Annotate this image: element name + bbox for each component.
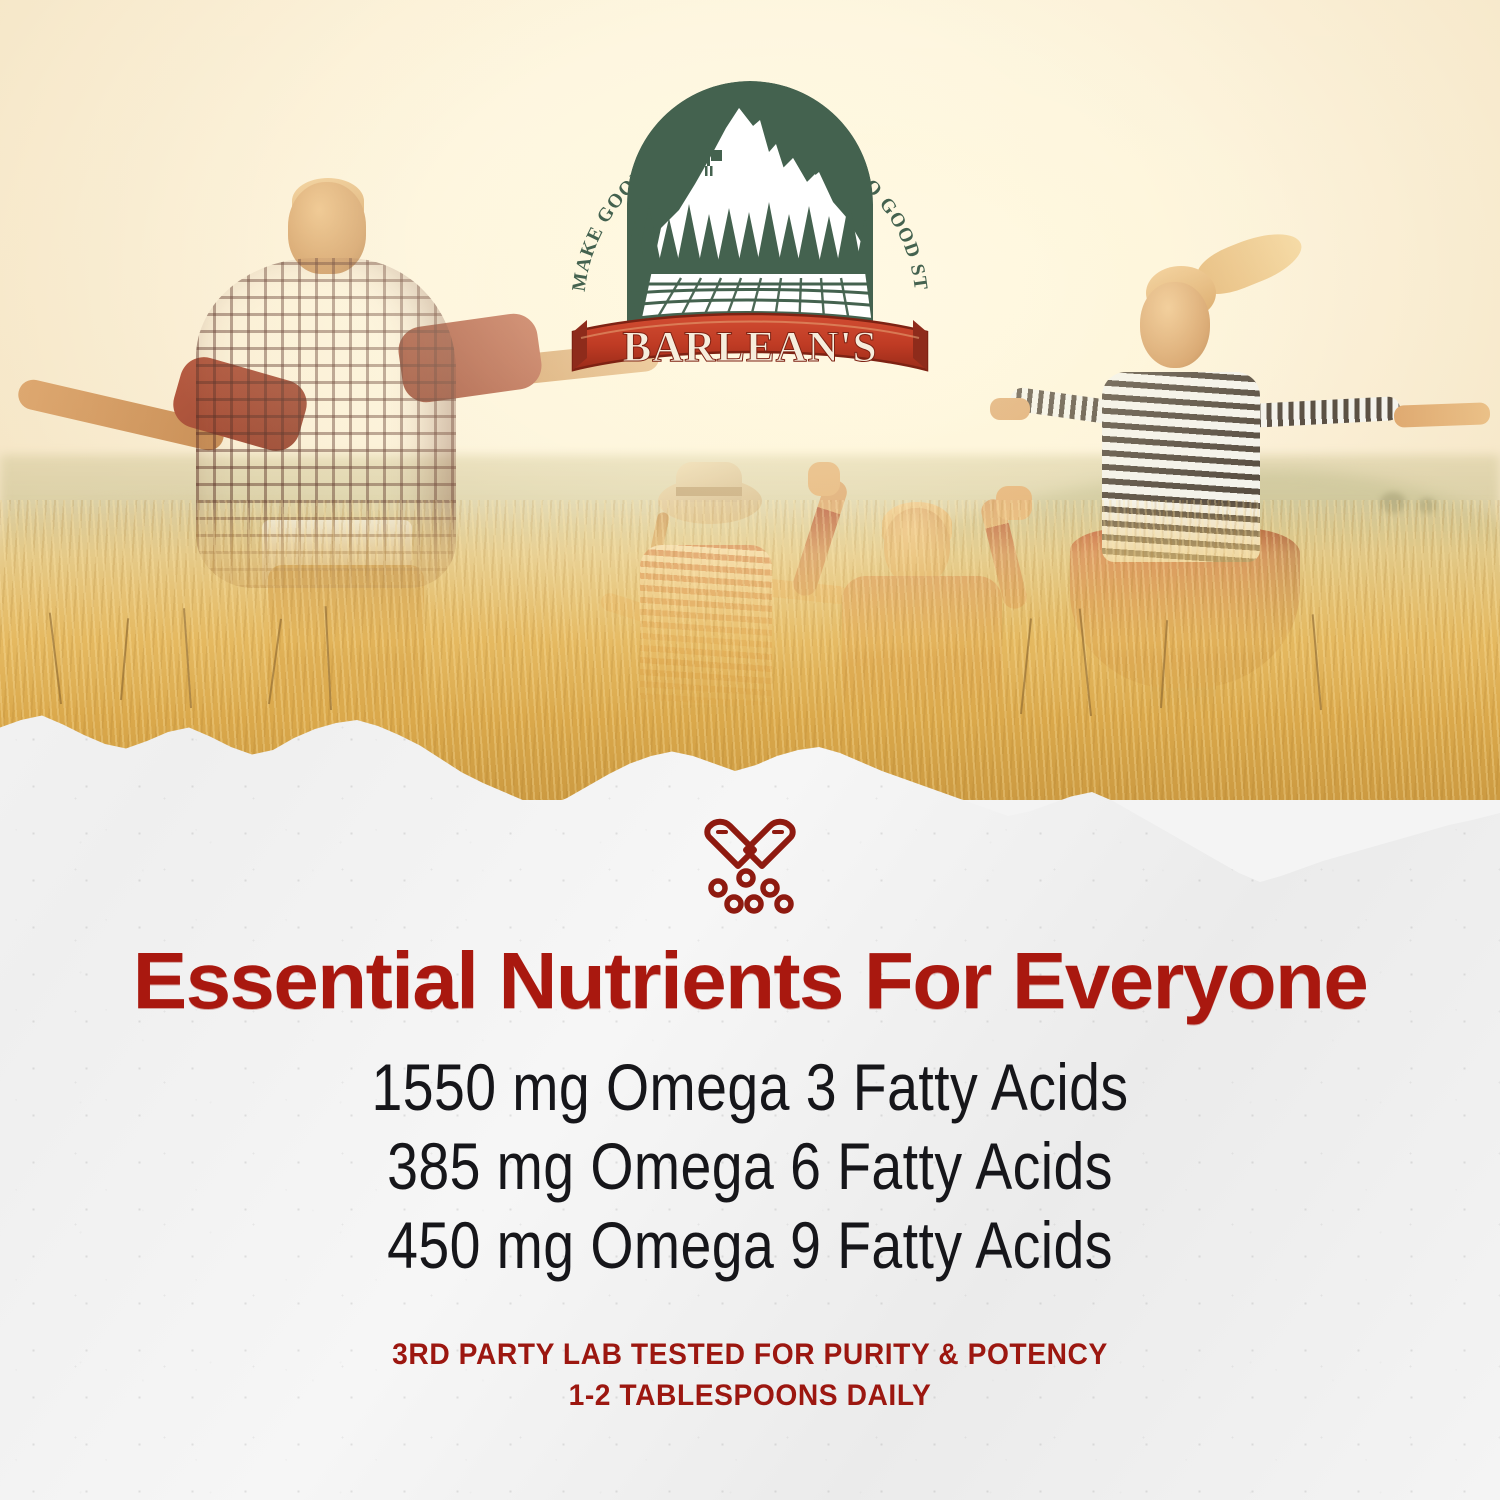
footnote-block: 3RD PARTY LAB TESTED FOR PURITY & POTENC… xyxy=(0,1334,1500,1416)
footnote-dosage: 1-2 TABLESPOONS DAILY xyxy=(45,1375,1455,1416)
list-item: 385 mg Omega 6 Fatty Acids xyxy=(120,1127,1380,1206)
list-item: 1550 mg Omega 3 Fatty Acids xyxy=(120,1048,1380,1127)
page-title: Essential Nutrients For Everyone xyxy=(0,935,1500,1027)
girl-hat-band xyxy=(676,487,742,496)
omega-list: 1550 mg Omega 3 Fatty Acids 385 mg Omega… xyxy=(0,1048,1500,1285)
granule-dots xyxy=(711,871,791,911)
woman-left-hand xyxy=(990,398,1030,420)
woman-head xyxy=(1140,282,1210,368)
boy-left-hand xyxy=(808,462,840,496)
product-image-canvas: WE MAKE GOOD STUFF SO YOU CAN DO GOOD ST… xyxy=(0,0,1500,1500)
capsules-and-dots-icon xyxy=(690,812,810,914)
straw-hat-icon xyxy=(676,462,742,502)
logo-dome-scene xyxy=(621,81,879,332)
logo-wordmark: BARLEAN'S xyxy=(622,324,877,371)
woman-right-hand xyxy=(1394,402,1491,427)
footnote-lab-tested: 3RD PARTY LAB TESTED FOR PURITY & POTENC… xyxy=(45,1334,1455,1375)
list-item: 450 mg Omega 9 Fatty Acids xyxy=(120,1206,1380,1285)
logo-ribbon: BARLEAN'S xyxy=(573,314,927,371)
barleans-logo: WE MAKE GOOD STUFF SO YOU CAN DO GOOD ST… xyxy=(561,32,939,372)
